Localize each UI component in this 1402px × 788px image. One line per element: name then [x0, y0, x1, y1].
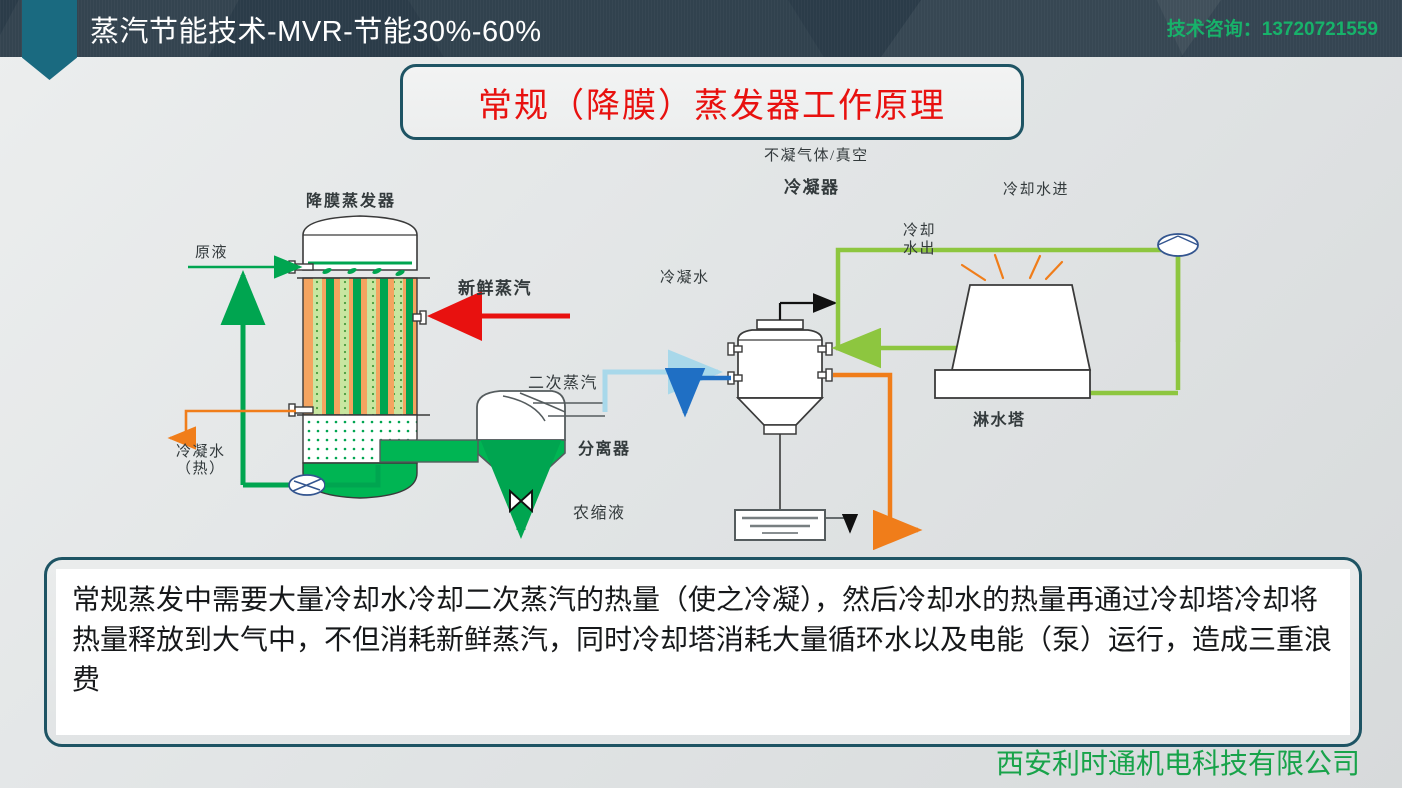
label-noncondensable: 不凝气体/真空	[764, 146, 869, 164]
label-evaporator: 降膜蒸发器	[306, 191, 396, 210]
slide-header: 蒸汽节能技术-MVR-节能30%-60% 技术咨询：13720721559	[0, 0, 1402, 57]
footer-company-name: 西安利时通机电科技有限公司	[996, 742, 1360, 782]
process-flow-diagram: 降膜蒸发器	[0, 140, 1402, 550]
label-separator: 分离器	[578, 439, 631, 458]
slide-title-text: 常规（降膜）蒸发器工作原理	[478, 78, 946, 127]
cooling-tower	[935, 255, 1090, 398]
slide-canvas: 蒸汽节能技术-MVR-节能30%-60% 技术咨询：13720721559 常规…	[0, 0, 1402, 788]
label-condensate-hot-line1: 冷凝水	[176, 443, 226, 460]
label-fresh-steam: 新鲜蒸汽	[458, 278, 532, 298]
label-cooling-water-out-line2: 水出	[903, 240, 936, 257]
header-title: 蒸汽节能技术-MVR-节能30%-60%	[90, 8, 542, 50]
label-cooling-water-in: 冷却水进	[1003, 181, 1069, 198]
header-pennant-shape	[22, 0, 77, 80]
label-condensate: 冷凝水	[660, 269, 710, 286]
hot-condensate-line	[170, 411, 296, 438]
surface-condenser	[728, 303, 835, 510]
description-box: 常规蒸发中需要大量冷却水冷却二次蒸汽的热量（使之冷凝），然后冷却水的热量再通过冷…	[44, 557, 1362, 747]
label-cooling-tower: 淋水塔	[973, 410, 1026, 429]
cooling-water-out-line	[833, 375, 918, 530]
circulation-pump-icon	[289, 475, 325, 495]
label-condensate-hot-line2: （热）	[176, 460, 226, 477]
label-cooling-water-out-line1: 冷却	[903, 222, 936, 239]
label-feed: 原液	[195, 244, 228, 261]
label-secondary-steam: 二次蒸汽	[528, 374, 598, 392]
description-paragraph: 常规蒸发中需要大量冷却水冷却二次蒸汽的热量（使之冷凝），然后冷却水的热量再通过冷…	[72, 581, 1334, 700]
cooling-water-pump-icon	[1158, 234, 1198, 256]
label-condenser: 冷凝器	[784, 177, 840, 197]
slide-title-box: 常规（降膜）蒸发器工作原理	[400, 64, 1024, 140]
description-inner: 常规蒸发中需要大量冷却水冷却二次蒸汽的热量（使之冷凝），然后冷却水的热量再通过冷…	[56, 569, 1350, 735]
condenser-condensate-line	[685, 378, 731, 413]
tower-spray-lines	[962, 255, 1062, 280]
label-concentrate: 农缩液	[573, 504, 626, 522]
header-contact: 技术咨询：13720721559	[1167, 14, 1378, 41]
seal-water-tank	[735, 510, 850, 540]
